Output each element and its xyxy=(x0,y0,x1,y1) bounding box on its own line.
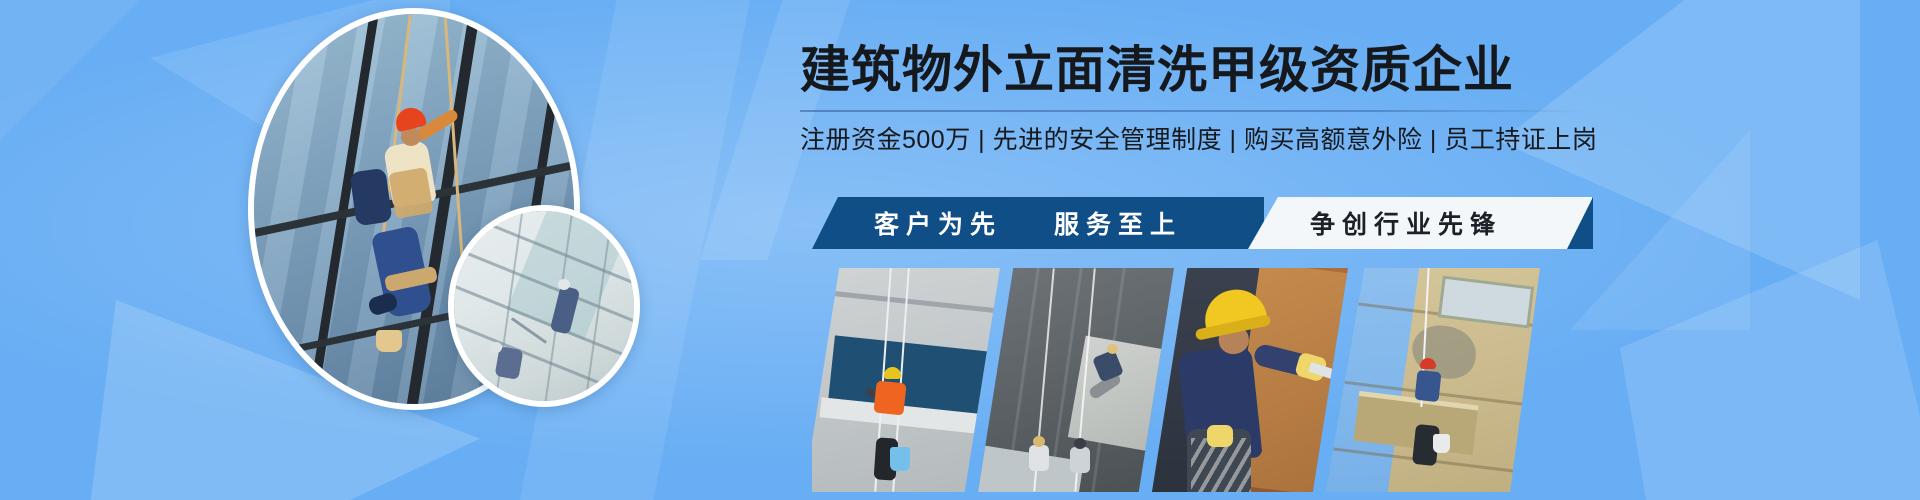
page-title: 建筑物外立面清洗甲级资质企业 xyxy=(800,44,1620,97)
strip-photo-plastering-worker xyxy=(1152,268,1348,492)
headline-block: 建筑物外立面清洗甲级资质企业 注册资金500万 | 先进的安全管理制度 | 购买… xyxy=(800,44,1620,155)
subtitle: 注册资金500万 | 先进的安全管理制度 | 购买高额意外险 | 员工持证上岗 xyxy=(800,125,1620,155)
slogan-ribbon-blue-section: 客户为先 服务至上 xyxy=(812,197,1264,249)
photo-worker-head xyxy=(1033,436,1045,447)
photo-worker-harness xyxy=(388,167,433,219)
strip-photo-beige-wall-rappel xyxy=(1326,268,1540,492)
photo-worker-head xyxy=(490,342,502,353)
photo-worker-body xyxy=(1070,447,1090,473)
photo-bucket xyxy=(1433,434,1450,453)
slogan-customer-first: 客户为先 xyxy=(874,205,1002,241)
photo-worker-body xyxy=(1029,445,1049,471)
slogan-ribbon: 客户为先 服务至上 争创行业先锋 xyxy=(812,197,1592,249)
title-divider xyxy=(800,110,1590,112)
circle-photo-light-facade xyxy=(448,205,640,407)
slogan-service-supreme: 服务至上 xyxy=(1054,205,1182,241)
promo-banner: 建筑物外立面清洗甲级资质企业 注册资金500万 | 先进的安全管理制度 | 购买… xyxy=(0,0,1920,500)
photo-bucket xyxy=(376,330,402,352)
photo-content xyxy=(454,211,634,401)
strip-photo-orange-vest-worker xyxy=(812,268,1000,492)
slogan-ribbon-white-section: 争创行业先锋 xyxy=(1248,197,1592,249)
slogan-industry-pioneer: 争创行业先锋 xyxy=(1310,205,1502,241)
photo-strip xyxy=(812,268,1592,492)
photo-orange-vest xyxy=(873,381,906,416)
photo-work-glove xyxy=(1207,425,1233,447)
photo-tool-bag xyxy=(350,168,393,226)
photo-bucket xyxy=(890,447,910,471)
strip-photo-dark-wall-workers xyxy=(978,268,1174,492)
photo-worker-body xyxy=(1414,370,1441,402)
